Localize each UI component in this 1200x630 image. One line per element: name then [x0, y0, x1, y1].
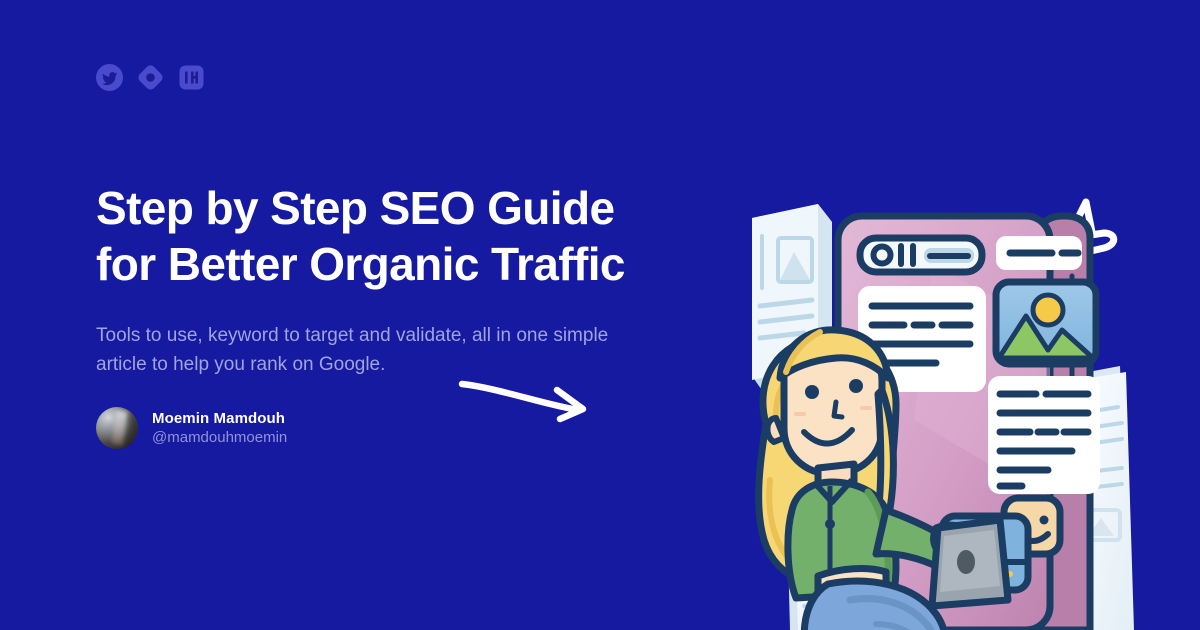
text-block-card-2 — [988, 376, 1100, 494]
hero-text: Step by Step SEO Guide for Better Organi… — [96, 180, 696, 449]
author-handle: @mamdouhmoemin — [152, 429, 287, 446]
author-block: Moemin Mamdouh @mamdouhmoemin — [96, 407, 696, 449]
hero-illustration — [700, 180, 1200, 630]
landscape-image-card — [996, 282, 1096, 364]
laptop — [932, 520, 1008, 606]
page-title: Step by Step SEO Guide for Better Organi… — [96, 180, 696, 292]
page-subtitle: Tools to use, keyword to target and vali… — [96, 322, 656, 379]
curved-arrow-doodle-icon — [456, 372, 601, 435]
twitter-icon[interactable] — [96, 64, 123, 91]
indiehackers-icon[interactable] — [178, 64, 205, 91]
avatar — [96, 407, 138, 449]
social-icons — [96, 64, 205, 91]
gumroad-icon[interactable] — [137, 64, 164, 91]
headline-card — [996, 236, 1082, 270]
browser-bar — [860, 238, 982, 272]
author-name: Moemin Mamdouh — [152, 410, 287, 427]
og-card: Step by Step SEO Guide for Better Organi… — [0, 0, 1200, 630]
